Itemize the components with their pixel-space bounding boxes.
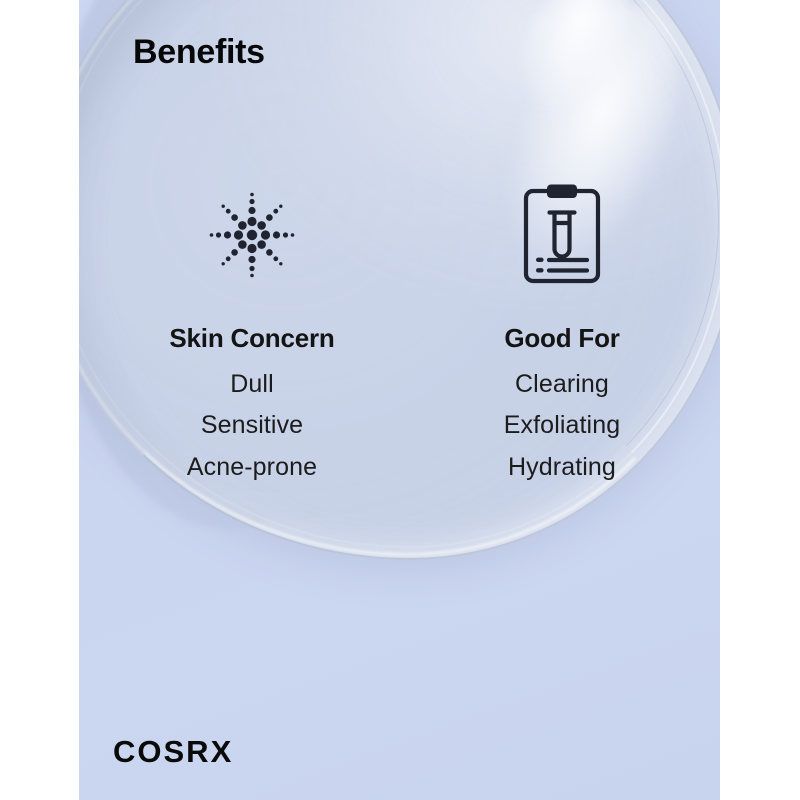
- list-item: Sensitive: [187, 405, 317, 447]
- benefit-column-skin-concern: Skin Concern Dull Sensitive Acne-prone: [87, 160, 417, 488]
- image-canvas: Benefits: [0, 0, 800, 800]
- benefit-list-good-for: Clearing Exfoliating Hydrating: [504, 364, 620, 489]
- list-item: Acne-prone: [187, 447, 317, 489]
- icon-slot-good-for: [513, 160, 611, 310]
- blue-panel: Benefits: [79, 0, 720, 800]
- icon-slot-skin-concern: [196, 160, 308, 310]
- benefit-list-skin-concern: Dull Sensitive Acne-prone: [187, 364, 317, 489]
- clipboard-test-tube-icon: [513, 180, 611, 290]
- page-title: Benefits: [133, 34, 265, 71]
- list-item: Hydrating: [504, 447, 620, 489]
- sun-burst-icon: [196, 179, 308, 291]
- list-item: Clearing: [504, 364, 620, 406]
- column-title-good-for: Good For: [504, 324, 619, 354]
- column-title-skin-concern: Skin Concern: [169, 324, 334, 354]
- list-item: Dull: [187, 364, 317, 406]
- benefit-column-good-for: Good For Clearing Exfoliating Hydrating: [417, 160, 707, 488]
- brand-logo-cosrx: COSRX: [113, 734, 233, 770]
- list-item: Exfoliating: [504, 405, 620, 447]
- content-layer: Benefits: [79, 0, 720, 800]
- benefits-columns: Skin Concern Dull Sensitive Acne-prone: [79, 160, 720, 488]
